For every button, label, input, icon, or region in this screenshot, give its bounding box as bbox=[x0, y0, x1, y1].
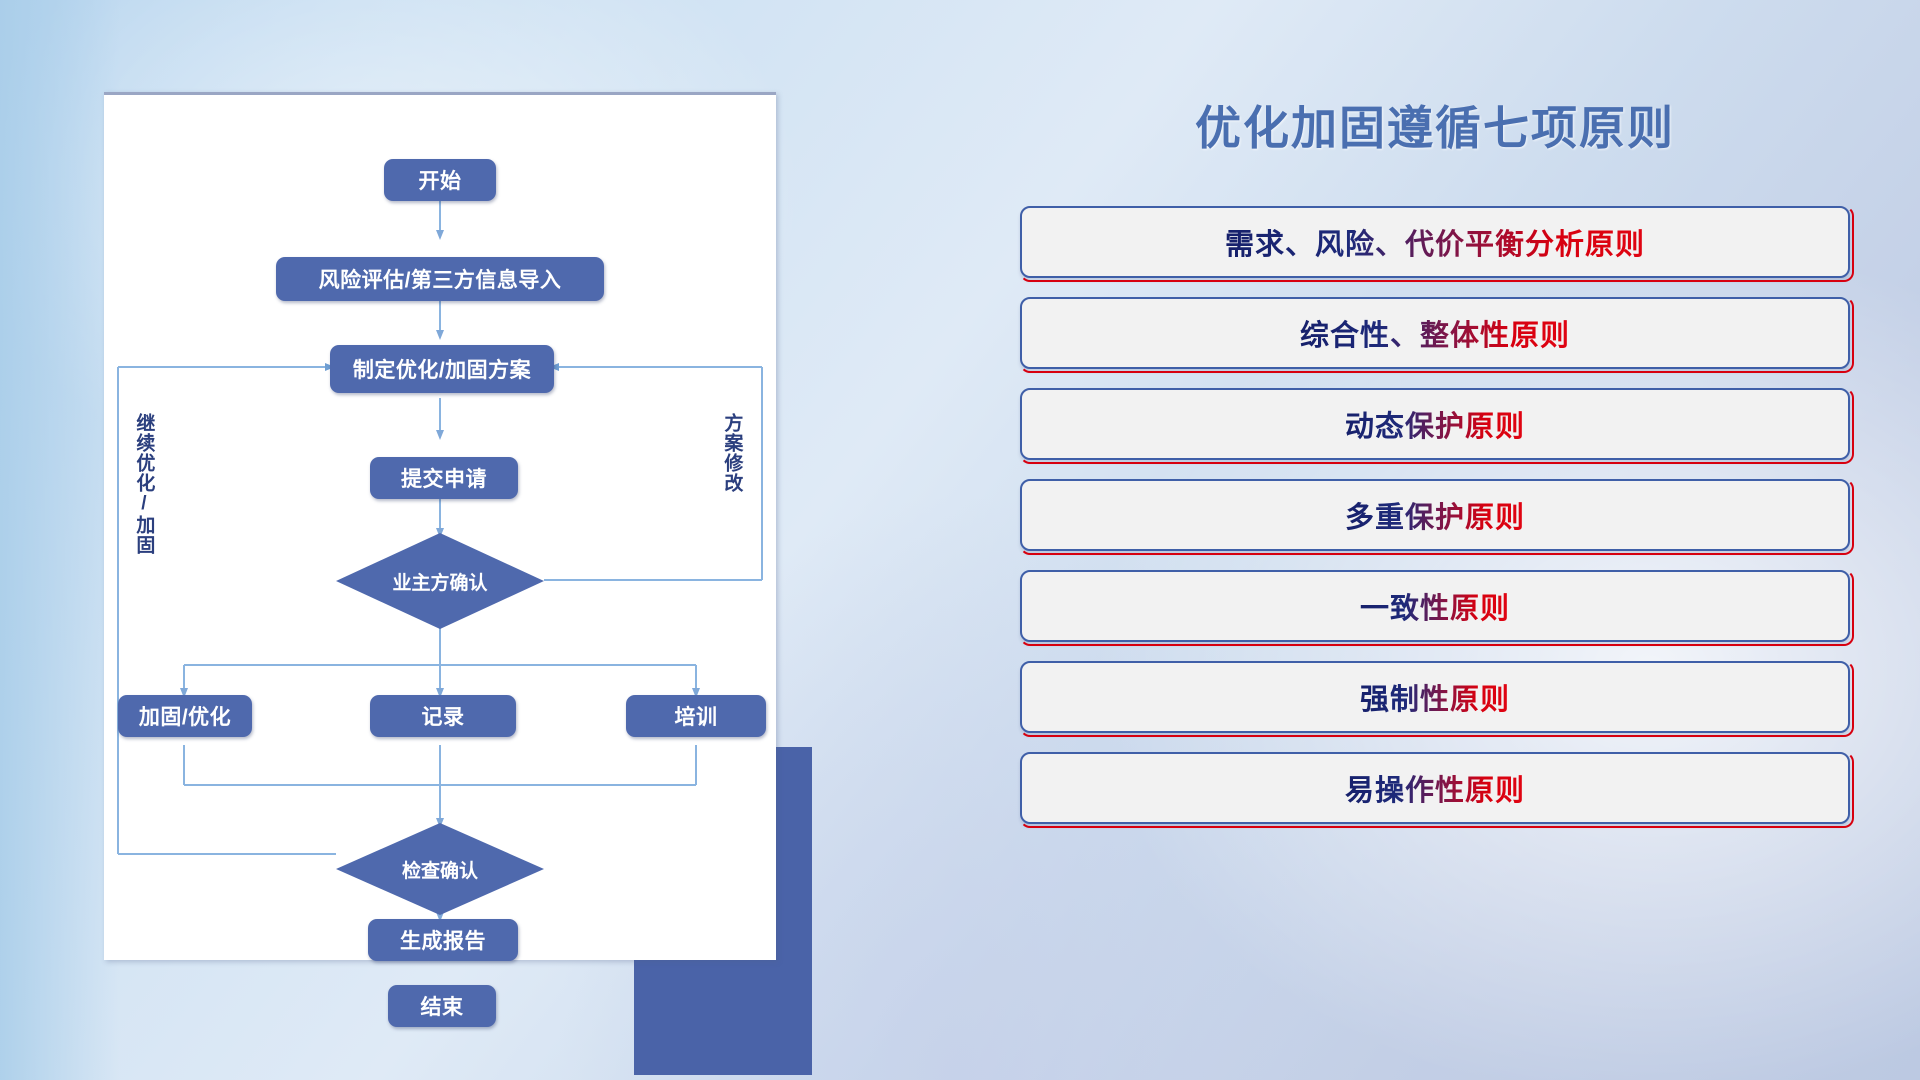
principle-label: 动态保护原则 bbox=[1345, 403, 1525, 445]
principle-label: 强制性原则 bbox=[1360, 676, 1510, 718]
flow-node-label: 提交申请 bbox=[401, 463, 487, 493]
principle-label: 多重保护原则 bbox=[1345, 494, 1525, 536]
principle-item[interactable]: 强制性原则 bbox=[1020, 661, 1850, 733]
flow-node-label: 业主方确认 bbox=[392, 568, 487, 595]
principle-item[interactable]: 需求、风险、代价平衡分析原则 bbox=[1020, 206, 1850, 278]
principles-title: 优化加固遵循七项原则 bbox=[1020, 92, 1850, 158]
principle-item[interactable]: 综合性、整体性原则 bbox=[1020, 297, 1850, 369]
slide-canvas: 开始 风险评估/第三方信息导入 制定优化/加固方案 提交申请 业主方确认 加固/… bbox=[0, 0, 1920, 1080]
flowchart-panel: 开始 风险评估/第三方信息导入 制定优化/加固方案 提交申请 业主方确认 加固/… bbox=[104, 92, 794, 982]
flow-node-label: 加固/优化 bbox=[139, 701, 231, 731]
flow-node-label: 开始 bbox=[419, 165, 462, 195]
flow-node-label: 风险评估/第三方信息导入 bbox=[319, 264, 562, 294]
flow-node-label: 记录 bbox=[422, 701, 465, 731]
principle-label: 需求、风险、代价平衡分析原则 bbox=[1225, 221, 1645, 263]
principle-item[interactable]: 一致性原则 bbox=[1020, 570, 1850, 642]
edge-label-plan-revision: 方案修改 bbox=[722, 413, 741, 493]
flow-node-label: 结束 bbox=[421, 991, 464, 1021]
flow-node-label: 生成报告 bbox=[400, 925, 486, 955]
flow-node-reinforce-optimize[interactable]: 加固/优化 bbox=[118, 695, 252, 737]
principle-label: 易操作性原则 bbox=[1345, 767, 1525, 809]
flowchart-card: 开始 风险评估/第三方信息导入 制定优化/加固方案 提交申请 业主方确认 加固/… bbox=[104, 92, 776, 960]
principle-label: 一致性原则 bbox=[1360, 585, 1510, 627]
flow-node-label: 培训 bbox=[675, 701, 718, 731]
principle-item[interactable]: 多重保护原则 bbox=[1020, 479, 1850, 551]
edge-label-continue-optimize: 继续优化/加固 bbox=[134, 413, 153, 555]
flow-node-training[interactable]: 培训 bbox=[626, 695, 766, 737]
flow-node-label: 检查确认 bbox=[402, 856, 478, 883]
principle-label: 综合性、整体性原则 bbox=[1300, 312, 1570, 354]
principles-list: 需求、风险、代价平衡分析原则 综合性、整体性原则 动态保护原则 多重保护原则 一… bbox=[1020, 206, 1850, 824]
flow-node-record[interactable]: 记录 bbox=[370, 695, 516, 737]
principle-item[interactable]: 易操作性原则 bbox=[1020, 752, 1850, 824]
flow-node-risk-assessment[interactable]: 风险评估/第三方信息导入 bbox=[276, 257, 604, 301]
flow-node-end[interactable]: 结束 bbox=[388, 985, 496, 1027]
flow-node-generate-report[interactable]: 生成报告 bbox=[368, 919, 518, 961]
flow-node-plan[interactable]: 制定优化/加固方案 bbox=[330, 345, 554, 393]
flow-node-start[interactable]: 开始 bbox=[384, 159, 496, 201]
flow-node-label: 制定优化/加固方案 bbox=[353, 354, 531, 384]
principles-panel: 优化加固遵循七项原则 需求、风险、代价平衡分析原则 综合性、整体性原则 动态保护… bbox=[1020, 92, 1850, 824]
principle-item[interactable]: 动态保护原则 bbox=[1020, 388, 1850, 460]
flow-node-submit-application[interactable]: 提交申请 bbox=[370, 457, 518, 499]
